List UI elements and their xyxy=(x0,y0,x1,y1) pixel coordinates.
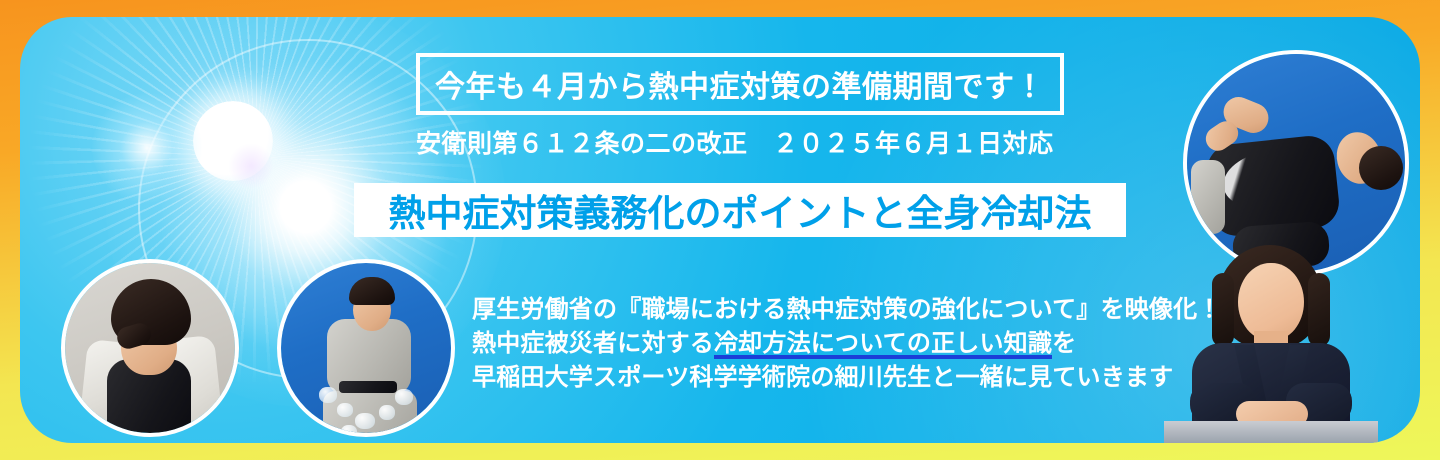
lens-flare-icon xyxy=(92,93,202,203)
subline: 安衛則第６１２条の二の改正 ２０２５年６月１日対応 xyxy=(416,125,1076,159)
body-line-2-underlined: 冷却方法についての正しい知識 xyxy=(714,330,1052,359)
page-title: 熱中症対策義務化のポイントと全身冷却法 xyxy=(389,183,1092,237)
lens-flare-secondary-icon xyxy=(228,143,274,189)
body-copy: 厚生労働省の『職場における熱中症対策の強化について』を映像化！ 熱中症被災者に対… xyxy=(472,293,1252,395)
ice-piece xyxy=(395,389,413,405)
headline-box: 今年も４月から熱中症対策の準備期間です！ xyxy=(416,53,1064,115)
body-line-1: 厚生労働省の『職場における熱中症対策の強化について』を映像化！ xyxy=(472,293,1252,327)
body-line-3: 早稲田大学スポーツ科学学術院の細川先生と一緒に見ていきます xyxy=(472,361,1252,395)
subject-hair xyxy=(1359,146,1403,190)
body-line-2: 熱中症被災者に対する冷却方法についての正しい知識を xyxy=(472,327,1252,361)
sun-disc-icon xyxy=(193,101,273,181)
ice-piece xyxy=(341,425,357,433)
banner-root: 今年も４月から熱中症対策の準備期間です！ 安衛則第６１２条の二の改正 ２０２５年… xyxy=(0,0,1440,460)
cooling-device xyxy=(1191,160,1225,234)
blue-panel: 今年も４月から熱中症対策の準備期間です！ 安衛則第６１２条の二の改正 ２０２５年… xyxy=(20,17,1420,443)
presenter-hair-left xyxy=(1212,273,1234,347)
ice-piece xyxy=(319,387,337,403)
photo-towel-neck xyxy=(61,259,239,437)
presenter-hair-right xyxy=(1308,273,1330,347)
presenter-desk xyxy=(1164,421,1378,443)
photo-towel-neck-image xyxy=(65,263,235,433)
title-box: 熱中症対策義務化のポイントと全身冷却法 xyxy=(354,183,1126,237)
photo-presenter xyxy=(1150,233,1390,443)
presenter-face xyxy=(1238,263,1304,341)
ice-piece xyxy=(379,405,395,420)
photo-ice-suit-image xyxy=(281,263,451,433)
ice-piece xyxy=(355,413,375,429)
ice-piece xyxy=(337,403,353,417)
subline-text: 安衛則第６１２条の二の改正 ２０２５年６月１日対応 xyxy=(416,124,1054,160)
worker-belt xyxy=(339,381,397,393)
body-line-2-suffix: を xyxy=(1052,330,1076,357)
photo-ice-suit xyxy=(277,259,455,437)
headline-text: 今年も４月から熱中症対策の準備期間です！ xyxy=(435,62,1045,106)
body-line-2-prefix: 熱中症被災者に対する xyxy=(472,330,714,357)
